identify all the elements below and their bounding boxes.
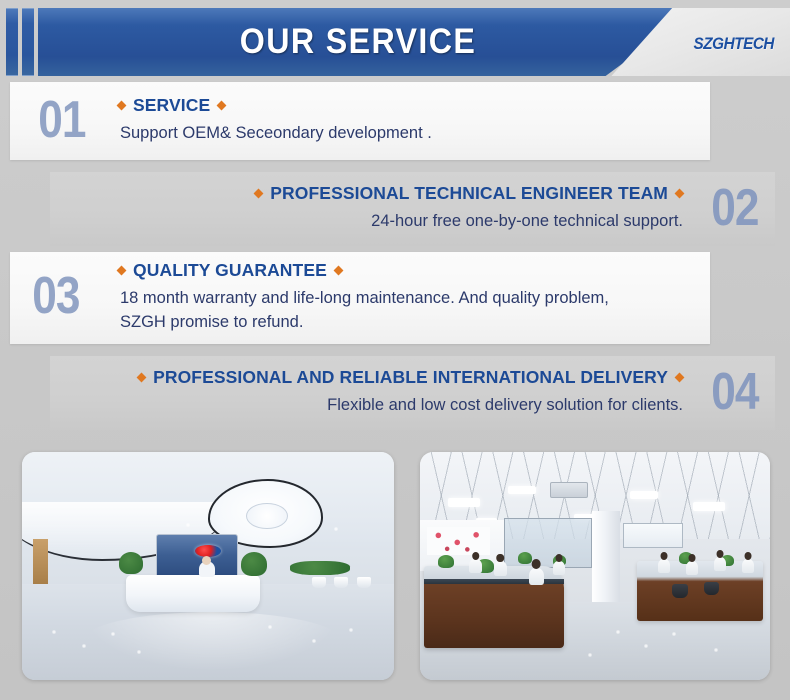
office-worker-3 (529, 568, 544, 585)
page-title: OUR SERVICE (64, 8, 653, 76)
service-heading-01: SERVICE (118, 95, 225, 116)
office-worker-7 (714, 557, 726, 571)
office-lobby-photo (22, 452, 394, 680)
lobby-pot-3 (357, 577, 371, 588)
office-worker-6 (686, 561, 698, 575)
service-heading-04: PROFESSIONAL AND RELIABLE INTERNATIONAL … (138, 367, 683, 388)
diamond-bullet-icon (675, 373, 685, 383)
service-body-03-line-2: SZGH promise to refund. (120, 311, 303, 334)
office-plant-1 (438, 555, 454, 568)
lobby-plant-row (290, 561, 350, 575)
office-chair-2 (704, 582, 719, 595)
diamond-bullet-icon (117, 101, 127, 111)
lobby-plant-left (119, 552, 143, 574)
office-worker-4 (553, 561, 565, 575)
lobby-plant-right (241, 552, 267, 576)
service-heading-text-01: SERVICE (133, 95, 210, 116)
service-heading-text-04: PROFESSIONAL AND RELIABLE INTERNATIONAL … (153, 367, 668, 388)
office-whiteboard (623, 523, 683, 548)
office-worker-8 (742, 559, 754, 573)
office-air-vent (550, 482, 589, 498)
header-accent-bar-2 (22, 8, 34, 76)
office-worker-1 (469, 559, 482, 573)
lobby-wood-door (33, 539, 48, 585)
service-body-02: 24-hour free one-by-one technical suppor… (371, 210, 683, 233)
service-heading-text-02: PROFESSIONAL TECHNICAL ENGINEER TEAM (270, 183, 668, 204)
office-pillar (592, 511, 620, 611)
office-worker-2 (494, 561, 507, 576)
service-number-01: 01 (38, 94, 85, 146)
lobby-reception-desk (126, 575, 260, 611)
office-plant-3 (518, 552, 532, 564)
diamond-bullet-icon (675, 189, 685, 199)
diamond-bullet-icon (333, 266, 343, 276)
service-row-01: 01 SERVICE Support OEM& Seceondary devel… (10, 82, 710, 160)
office-chair-1 (672, 584, 688, 598)
header-accent-bar-1 (6, 8, 18, 76)
diamond-bullet-icon (137, 373, 147, 383)
office-worker-5 (658, 559, 670, 573)
lobby-pot-1 (312, 577, 326, 588)
service-row-04: 04 PROFESSIONAL AND RELIABLE INTERNATION… (50, 356, 775, 430)
service-heading-03: QUALITY GUARANTEE (118, 260, 342, 281)
service-heading-text-03: QUALITY GUARANTEE (133, 260, 327, 281)
office-culture-board (427, 527, 490, 554)
lobby-floor-reflection (82, 612, 342, 671)
service-number-03: 03 (32, 270, 79, 322)
diamond-bullet-icon (117, 266, 127, 276)
service-row-02: 02 PROFESSIONAL TECHNICAL ENGINEER TEAM … (50, 172, 775, 246)
page-header: OUR SERVICE SZGHTECH (0, 8, 790, 76)
diamond-bullet-icon (217, 101, 227, 111)
service-number-04: 04 (711, 366, 758, 418)
service-body-04: Flexible and low cost delivery solution … (327, 394, 683, 417)
service-body-03-line-1: 18 month warranty and life-long maintena… (120, 287, 609, 310)
service-body-01: Support OEM& Seceondary development . (120, 122, 432, 145)
service-row-03: 03 QUALITY GUARANTEE 18 month warranty a… (10, 252, 710, 344)
service-number-02: 02 (711, 182, 758, 234)
lobby-backdrop-wall (156, 534, 238, 580)
service-heading-02: PROFESSIONAL TECHNICAL ENGINEER TEAM (255, 183, 683, 204)
diamond-bullet-icon (254, 189, 264, 199)
open-office-photo (420, 452, 770, 680)
brand-logo: SZGHTECH (693, 34, 774, 54)
lobby-receptionist (199, 561, 215, 577)
service-page: OUR SERVICE SZGHTECH 01 SERVICE Support … (0, 0, 790, 700)
